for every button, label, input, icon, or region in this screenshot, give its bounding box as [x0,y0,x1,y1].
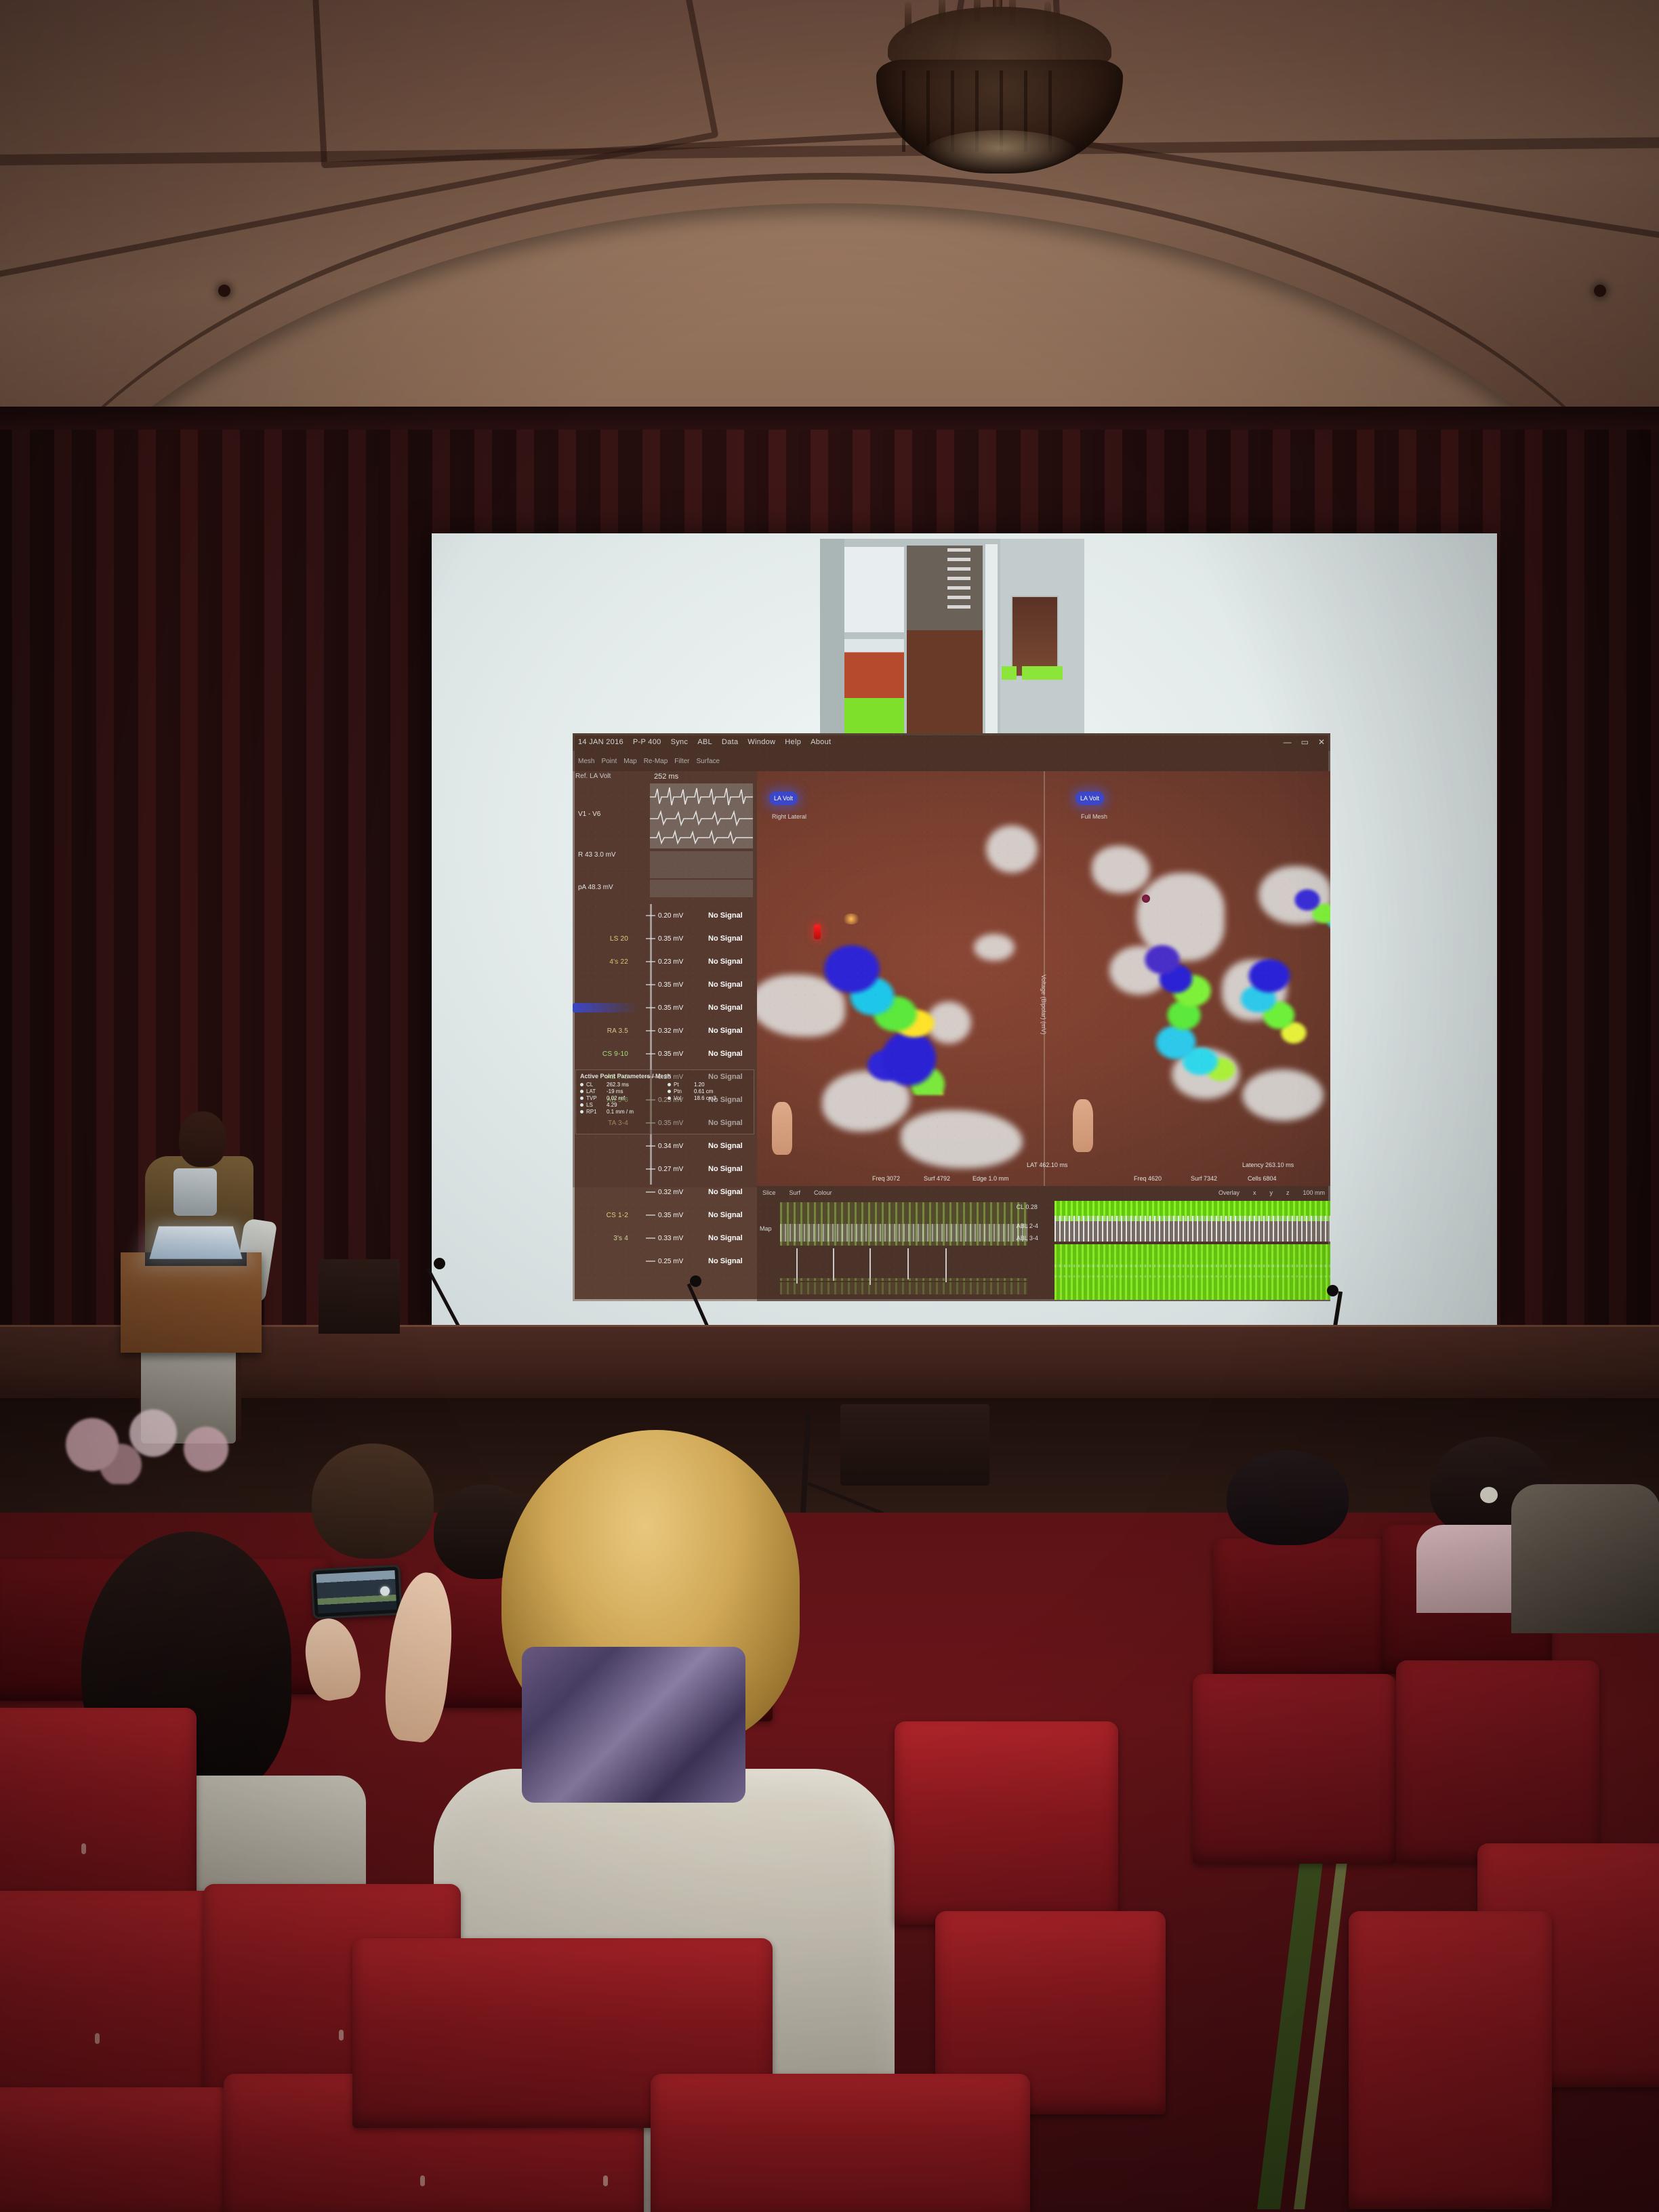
map-left-footer-1: Freq 3072 [872,1175,900,1182]
audience-person [1220,1450,1376,1565]
map-left-footer-lat: LAT 462.10 ms [1027,1162,1067,1168]
info-cell: Pt1.20 [668,1082,750,1088]
audience-person [1511,1457,1659,1633]
channel-list[interactable]: 0.20 mVNo SignalLS 200.35 mVNo Signal4's… [638,904,754,1185]
voltage-blob-right-b [1231,945,1330,1073]
microphone-head-icon [690,1275,701,1287]
lead-label-pa: pA 48.3 mV [578,884,613,891]
channel-row[interactable]: 0.25 mVNo Signal [638,1250,754,1273]
wv-label-surf[interactable]: Surf [790,1189,801,1196]
channel-label: CS 1-2 [575,1212,628,1219]
channel-voltage: 0.32 mV [658,1189,683,1196]
app-toolbar[interactable]: Mesh Point Map Re-Map Filter Surface [573,751,1330,771]
menu-item-window[interactable]: Window [747,738,775,746]
close-icon[interactable]: ✕ [1318,737,1325,747]
channel-voltage: 0.34 mV [658,1143,683,1150]
info-title: Active Point Parameters / Mesh [580,1073,750,1080]
left-signal-panel[interactable]: Ref. LA Volt 252 ms V1 - V6 R 43 3.0 mV … [573,771,757,1187]
ceiling [0,0,1659,420]
toolbar-item-filter[interactable]: Filter [674,758,689,765]
menu-item-abl[interactable]: ABL [697,738,712,746]
info-cell: Ptn0.61 cm [668,1088,750,1094]
reference-strip [650,851,753,878]
toolbar-item-surface[interactable]: Surface [697,758,720,765]
channel-label: CS 9-10 [575,1050,628,1058]
channel-row[interactable]: 0.35 mVNo Signal [638,996,754,1019]
reference-dot-icon [842,914,860,924]
menu-item-date: 14 JAN 2016 [578,738,623,746]
channel-row[interactable]: 0.20 mVNo Signal [638,904,754,927]
app-menubar[interactable]: 14 JAN 2016 P-P 400 Sync ABL Data Window… [573,733,1330,751]
menu-item-sync[interactable]: Sync [671,738,689,746]
menu-item-help[interactable]: Help [785,738,801,746]
reference-point-icon [1142,895,1150,903]
lead-label-v: V1 - V6 [578,811,600,818]
wv-label-y: y [1269,1189,1273,1196]
map-right-view-label: Full Mesh [1081,813,1107,820]
channel-voltage: 0.32 mV [658,1027,683,1035]
map-left-footer-3: Edge 1.0 mm [972,1175,1009,1182]
toolbar-item-mesh[interactable]: Mesh [578,758,594,765]
channel-state: No Signal [708,1188,743,1196]
channel-row[interactable]: CS 9-100.35 mVNo Signal [638,1042,754,1065]
channel-label: 3's 4 [575,1235,628,1242]
reference-strip-2 [650,880,753,897]
channel-row[interactable]: CS 1-20.35 mVNo Signal [638,1204,754,1227]
body-orientation-icon-right [1073,1099,1093,1152]
maximize-icon[interactable]: ▭ [1301,737,1309,747]
channel-row[interactable]: 3's 40.33 mVNo Signal [638,1227,754,1250]
toolbar-item-map[interactable]: Map [623,758,636,765]
channel-state: No Signal [708,1004,743,1012]
voltage-map-viewport[interactable]: LA Volt Right Lateral Freq 3072 Surf 479… [757,771,1330,1186]
channel-state: No Signal [708,981,743,989]
map-right-title: LA Volt [1080,795,1099,802]
chandelier-icon [823,0,1176,192]
wv-label-slice[interactable]: Slice [762,1189,776,1196]
seat[interactable] [1193,1674,1396,1864]
auditorium-scene: 14 JAN 2016 P-P 400 Sync ABL Data Window… [0,0,1659,2212]
microphone-head-icon [1327,1285,1338,1296]
seat[interactable] [0,1891,217,2114]
channel-state: No Signal [708,958,743,966]
info-cell: TVP0.02 ref [580,1095,662,1101]
speaker-cabinet [319,1259,400,1334]
map-right-footer-2: Surf 7342 [1191,1175,1217,1182]
channel-label: 4's 22 [575,958,628,966]
seat[interactable] [895,1721,1118,1925]
channel-voltage: 0.25 mV [658,1258,683,1265]
channel-voltage: 0.35 mV [658,935,683,943]
wv-label-x: x [1253,1189,1256,1196]
menu-item-data[interactable]: Data [722,738,738,746]
map-right-title-pill[interactable]: LA Volt [1076,792,1104,805]
channel-row[interactable]: 0.32 mVNo Signal [638,1181,754,1204]
map-left-footer-2: Surf 4792 [924,1175,950,1182]
map-left-view-label: Right Lateral [772,813,806,820]
menu-item-about[interactable]: About [811,738,831,746]
waveform-toolbar[interactable]: Slice Surf Colour Overlay x y z 100 mm [757,1186,1330,1200]
channel-state: No Signal [708,1211,743,1219]
channel-voltage: 0.27 mV [658,1166,683,1173]
menu-item-pp[interactable]: P-P 400 [633,738,661,746]
waveform-right[interactable]: CL 0.28 ABL 2-4 ABL 3-4 [1015,1200,1330,1301]
curtain-trim [0,407,1659,430]
channel-voltage: 0.23 mV [658,958,683,966]
info-cell [668,1109,750,1115]
info-cell: RP10.1 mm / m [580,1109,662,1115]
scarf [522,1647,745,1803]
wv-label-z: z [1286,1189,1290,1196]
wv-label-scale: 100 mm [1303,1189,1325,1196]
toolbar-item-remap[interactable]: Re-Map [644,758,668,765]
cycle-length-value: 252 ms [654,773,678,781]
downlight-icon [218,285,230,297]
inset-window [820,539,1084,737]
seat[interactable] [1396,1660,1599,1864]
channel-state: No Signal [708,1027,743,1035]
channel-row[interactable]: 0.34 mVNo Signal [638,1134,754,1158]
map-right-footer-lat: Latency 263.10 ms [1242,1162,1294,1168]
ablation-marker-icon [814,924,821,939]
waveform-panel[interactable]: Slice Surf Colour Overlay x y z 100 mm M… [757,1186,1330,1301]
toolbar-item-point[interactable]: Point [601,758,617,765]
voltage-blob-right-c [1286,880,1330,961]
info-cell: LAT-19 ms [580,1088,662,1094]
channel-voltage: 0.35 mV [658,1004,683,1012]
map-right-footer-1: Freq 4620 [1134,1175,1162,1182]
waveform-left-label: Map [760,1225,772,1232]
channel-state: No Signal [708,912,743,920]
downlight-icon [1594,285,1606,297]
channel-voltage: 0.20 mV [658,912,683,920]
minimize-icon[interactable]: — [1284,737,1292,747]
presenter-shirt [173,1168,217,1216]
info-cell: Vol18.6 cm3 [668,1095,750,1101]
channel-label: LS 20 [575,935,628,943]
cardiac-mapping-app[interactable]: 14 JAN 2016 P-P 400 Sync ABL Data Window… [573,733,1330,1301]
voltage-blob-left [822,939,958,1095]
waveform-right-label-cl: CL 0.28 [1017,1204,1038,1210]
hair-clip-icon [1480,1487,1498,1503]
channel-state: No Signal [708,1165,743,1173]
ecg-preview [650,783,753,848]
channel-state: No Signal [708,1257,743,1265]
info-cell [668,1102,750,1108]
channel-state: No Signal [708,1234,743,1242]
channel-row[interactable]: 4's 220.23 mVNo Signal [638,950,754,973]
selected-channel-highlight [573,1003,638,1012]
channel-state: No Signal [708,1142,743,1150]
channel-row[interactable]: 0.27 mVNo Signal [638,1158,754,1181]
microphone-head-icon [434,1258,445,1269]
active-point-parameters: Active Point Parameters / Mesh CL262.3 m… [575,1069,754,1134]
body-orientation-icon [772,1102,792,1155]
info-cell: CL262.3 ms [580,1082,662,1088]
channel-row[interactable]: LS 200.35 mVNo Signal [638,927,754,950]
seat[interactable] [651,2074,1030,2212]
channel-row[interactable]: RA 3.50.32 mVNo Signal [638,1019,754,1042]
waveform-right-label-abl2: ABL 3-4 [1017,1235,1038,1242]
presenter-head [179,1111,226,1167]
flower-arrangement [47,1396,251,1484]
info-cell: LS4.29 [580,1102,662,1108]
channel-voltage: 0.33 mV [658,1235,683,1242]
channel-row[interactable]: 0.35 mVNo Signal [638,973,754,996]
seat[interactable] [1349,1911,1552,2209]
lead-label-r: R 43 3.0 mV [578,851,616,859]
channel-voltage: 0.35 mV [658,1212,683,1219]
channel-state: No Signal [708,1050,743,1058]
laptop-icon[interactable] [149,1227,242,1259]
channel-label: RA 3.5 [575,1027,628,1035]
podium [121,1252,262,1353]
map-right-footer-3: Cells 6804 [1248,1175,1277,1182]
wv-label-overlay[interactable]: Overlay [1218,1189,1240,1196]
seat[interactable] [0,1708,197,1911]
waveform-left[interactable]: Map [757,1200,1015,1301]
seat[interactable] [0,2087,230,2212]
colorbar-axis-label: Voltage (Bipolar) (mV) [1040,975,1047,1035]
panel-header: Ref. LA Volt [575,773,611,780]
smartphone[interactable] [310,1565,403,1620]
map-left-title: LA Volt [774,795,793,802]
waveform-right-label-abl1: ABL 2-4 [1017,1223,1038,1229]
wv-label-colour[interactable]: Colour [814,1189,832,1196]
channel-voltage: 0.35 mV [658,981,683,989]
channel-state: No Signal [708,935,743,943]
channel-voltage: 0.35 mV [658,1050,683,1058]
map-left-title-pill[interactable]: LA Volt [769,792,798,805]
